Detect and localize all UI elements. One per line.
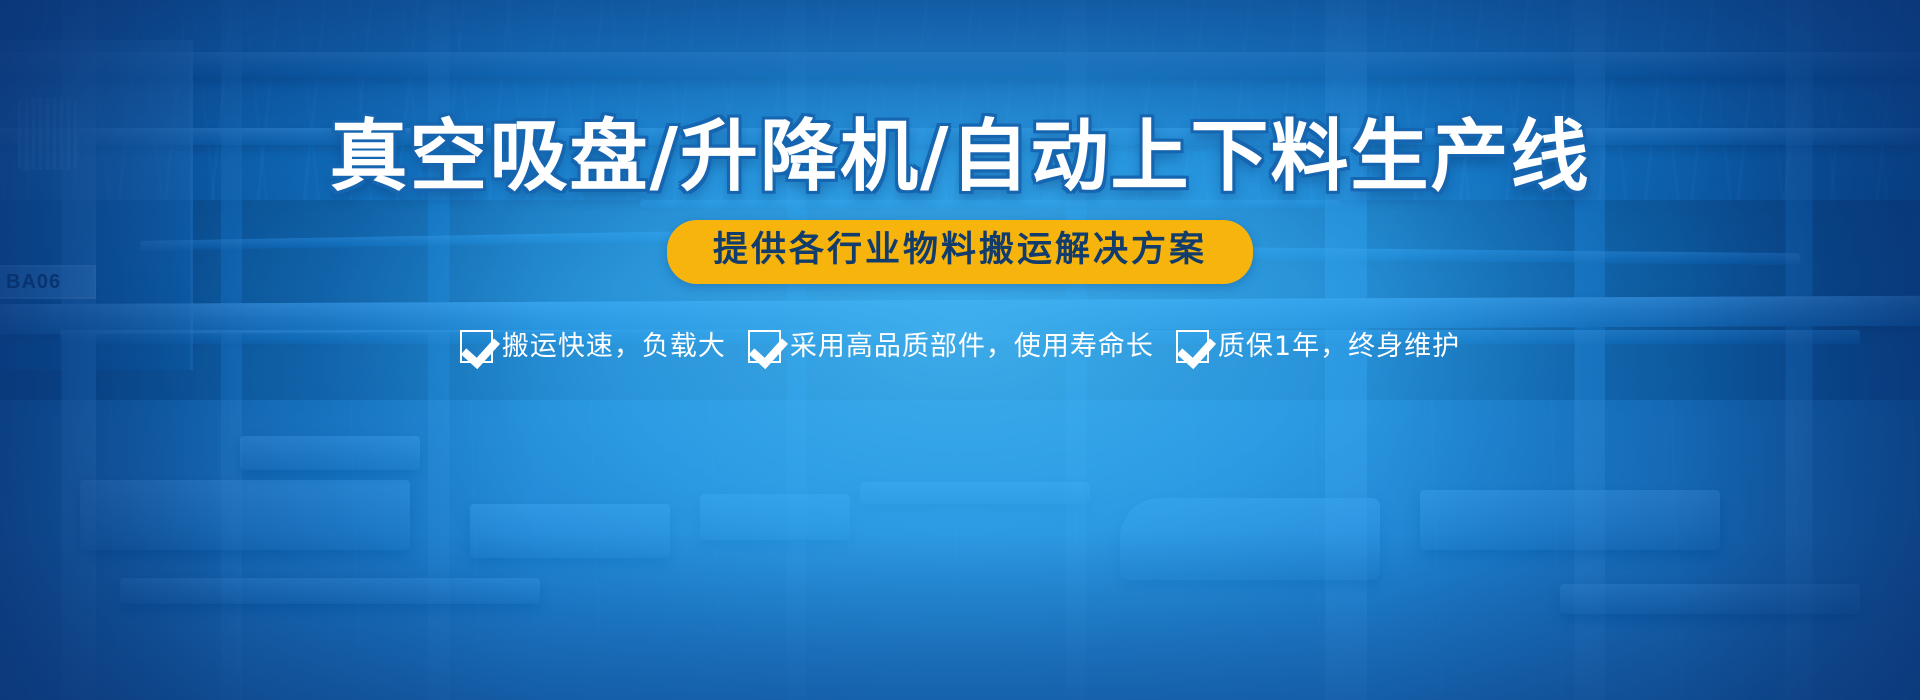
feature-list: 搬运快速，负载大 采用高品质部件，使用寿命长 质保1年，终身维护 xyxy=(460,330,1460,363)
banner-headline: 真空吸盘/升降机/自动上下料生产线 xyxy=(330,118,1591,196)
feature-item-3: 质保1年，终身维护 xyxy=(1176,330,1460,363)
hero-banner: BA06 真空吸盘/升降机/自动上下料生产线 提供各行业物料搬运解决方案 搬运快… xyxy=(0,0,1920,700)
feature-label: 搬运快速，负载大 xyxy=(502,333,726,360)
feature-item-1: 搬运快速，负载大 xyxy=(460,330,726,363)
feature-item-2: 采用高品质部件，使用寿命长 xyxy=(748,330,1154,363)
checkbox-checked-icon xyxy=(460,330,493,363)
feature-label: 质保1年，终身维护 xyxy=(1218,333,1460,360)
banner-subtitle-pill: 提供各行业物料搬运解决方案 xyxy=(667,220,1253,284)
banner-content: 真空吸盘/升降机/自动上下料生产线 提供各行业物料搬运解决方案 搬运快速，负载大… xyxy=(0,0,1920,700)
feature-label: 采用高品质部件，使用寿命长 xyxy=(790,333,1154,360)
checkbox-checked-icon xyxy=(748,330,781,363)
checkbox-checked-icon xyxy=(1176,330,1209,363)
